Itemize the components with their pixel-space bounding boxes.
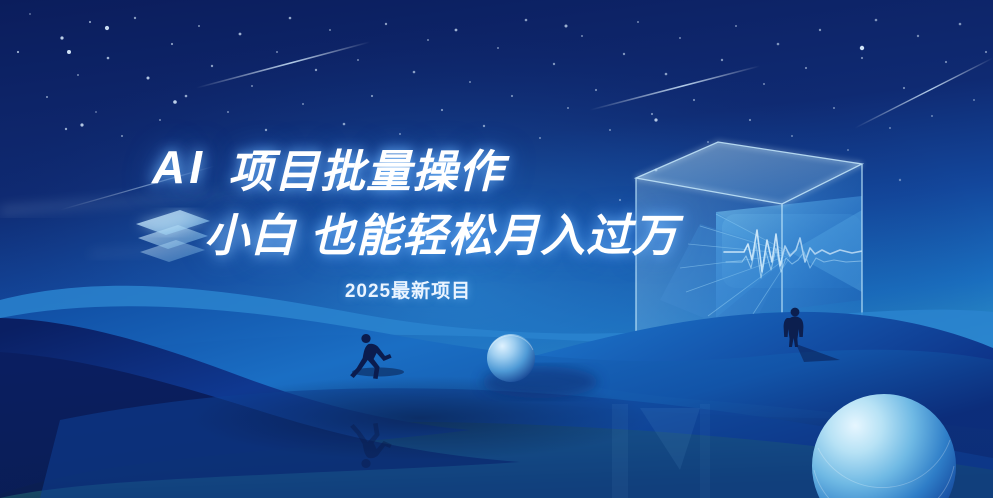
promo-banner: AI 项目批量操作 小白 也能轻松月入过万 2025最新项目 xyxy=(0,0,993,498)
layers-stack-icon xyxy=(0,0,993,498)
